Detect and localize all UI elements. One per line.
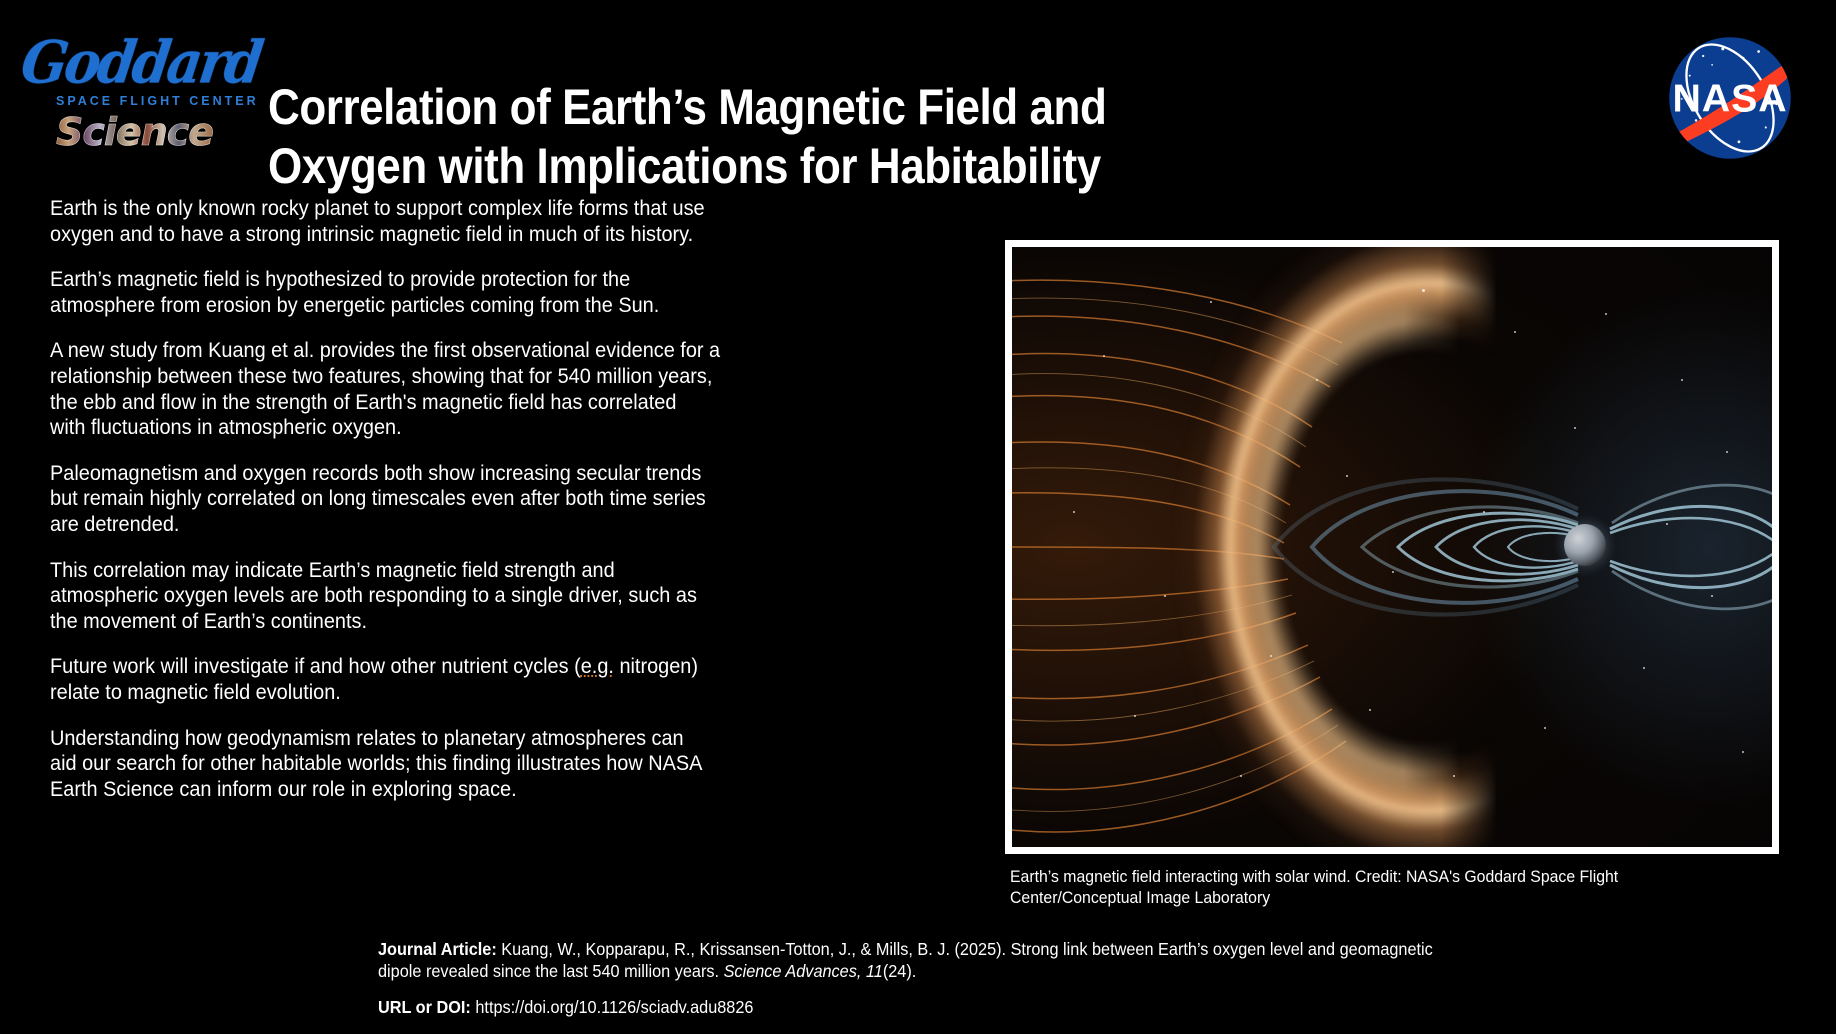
earth-globe — [1564, 524, 1606, 566]
earth-magnetosphere-image — [1012, 247, 1772, 847]
journal-article-row: Journal Article: Kuang, W., Kopparapu, R… — [378, 938, 1457, 982]
goddard-subtitle-text: SPACE FLIGHT CENTER — [56, 94, 259, 108]
body-paragraph-7: Understanding how geodynamism relates to… — [50, 726, 738, 803]
nasa-meatball-logo: NASA — [1640, 22, 1820, 174]
body-paragraph-6: Future work will investigate if and how … — [50, 654, 738, 705]
journal-article-text-b: (24). — [883, 961, 916, 981]
goddard-science-logo: Goddard SPACE FLIGHT CENTER Science — [14, 28, 244, 148]
body-text-column: Earth is the only known rocky planet to … — [50, 196, 790, 822]
doi-link[interactable]: https://doi.org/10.1126/sciadv.adu8826 — [475, 997, 753, 1017]
body-paragraph-4: Paleomagnetism and oxygen records both s… — [50, 461, 738, 538]
figure-caption: Earth’s magnetic field interacting with … — [1010, 866, 1735, 908]
page-title: Correlation of Earth’s Magnetic Field an… — [268, 78, 1447, 196]
doi-label: URL or DOI: — [378, 997, 471, 1017]
poster-canvas: Goddard SPACE FLIGHT CENTER Science Corr… — [0, 0, 1836, 1034]
nasa-wordmark-text: NASA — [1672, 76, 1787, 120]
nasa-logo-svg: NASA — [1640, 22, 1820, 174]
page-title-line-2: Oxygen with Implications for Habitabilit… — [268, 137, 1447, 196]
body-paragraph-2: Earth’s magnetic field is hypothesized t… — [50, 267, 738, 318]
body-paragraph-5: This correlation may indicate Earth’s ma… — [50, 558, 738, 635]
future-work-text-before: Future work will investigate if and how … — [50, 654, 581, 678]
figure-frame — [1005, 240, 1779, 854]
body-paragraph-1: Earth is the only known rocky planet to … — [50, 196, 738, 247]
journal-article-italic: Science Advances, 11 — [724, 961, 883, 981]
goddard-script-text: Goddard — [17, 27, 265, 96]
figure-starfield — [1012, 247, 1772, 847]
page-title-line-1: Correlation of Earth’s Magnetic Field an… — [268, 78, 1447, 137]
footer-citation: Journal Article: Kuang, W., Kopparapu, R… — [378, 938, 1538, 1032]
spellcheck-flagged-word: e.g. — [581, 654, 614, 678]
doi-row: URL or DOI: https://doi.org/10.1126/scia… — [378, 996, 1457, 1018]
journal-article-label: Journal Article: — [378, 939, 497, 959]
body-paragraph-3: A new study from Kuang et al. provides t… — [50, 338, 738, 440]
goddard-science-wordmark: Science — [56, 110, 213, 154]
